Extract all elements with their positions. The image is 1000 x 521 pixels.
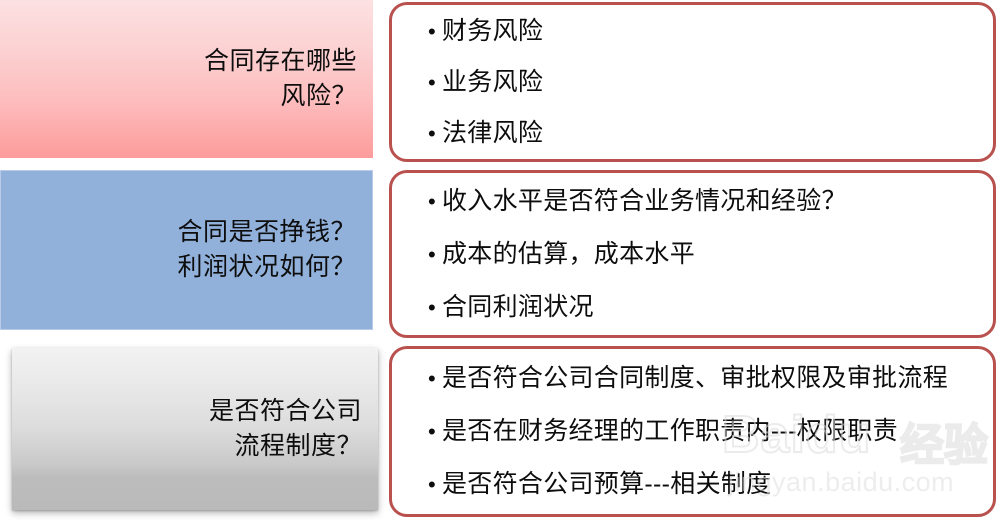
- bullet-text: 业务风险: [442, 70, 543, 95]
- bullet-dot-icon: •: [428, 72, 442, 94]
- bullet-text: 法律风险: [442, 121, 543, 146]
- bullet-item: • 合同利润状况: [428, 295, 993, 320]
- category-block-profit: 合同是否挣钱？ 利润状况如何？: [0, 170, 373, 330]
- bullet-item: • 是否符合公司预算---相关制度: [428, 472, 993, 497]
- bullet-dot-icon: •: [428, 297, 442, 319]
- bullet-dot-icon: •: [428, 191, 442, 213]
- bullet-item: • 成本的估算，成本水平: [428, 242, 993, 267]
- category-label-risk: 合同存在哪些 风险？: [204, 44, 373, 115]
- slide-canvas: 合同存在哪些 风险？ • 财务风险 • 业务风险 • 法律风险 合同是否挣钱？ …: [0, 0, 1000, 521]
- bullet-item: • 是否在财务经理的工作职责内---权限职责: [428, 419, 993, 444]
- bullet-dot-icon: •: [428, 21, 442, 43]
- bullet-item: • 法律风险: [428, 121, 993, 146]
- category-label-process: 是否符合公司 流程制度？: [209, 394, 378, 465]
- bullet-dot-icon: •: [428, 421, 442, 443]
- detail-panel-profit: • 收入水平是否符合业务情况和经验？ • 成本的估算，成本水平 • 合同利润状况: [389, 170, 996, 338]
- bullet-dot-icon: •: [428, 123, 442, 145]
- bullet-dot-icon: •: [428, 244, 442, 266]
- bullet-item: • 是否符合公司合同制度、审批权限及审批流程: [428, 366, 993, 391]
- bullet-text: 成本的估算，成本水平: [442, 242, 695, 267]
- bullet-item: • 业务风险: [428, 70, 993, 95]
- bullet-item: • 财务风险: [428, 19, 993, 44]
- category-block-risk: 合同存在哪些 风险？: [0, 0, 373, 158]
- bullet-text: 是否符合公司预算---相关制度: [442, 472, 771, 497]
- bullet-dot-icon: •: [428, 368, 442, 390]
- category-block-process: 是否符合公司 流程制度？: [12, 348, 378, 510]
- bullet-item: • 收入水平是否符合业务情况和经验？: [428, 189, 993, 214]
- detail-panel-process: • 是否符合公司合同制度、审批权限及审批流程 • 是否在财务经理的工作职责内--…: [389, 346, 996, 517]
- bullet-text: 收入水平是否符合业务情况和经验？: [442, 189, 847, 214]
- category-label-profit: 合同是否挣钱？ 利润状况如何？: [177, 215, 372, 286]
- bullet-text: 是否在财务经理的工作职责内---权限职责: [442, 419, 898, 444]
- detail-panel-risk: • 财务风险 • 业务风险 • 法律风险: [389, 2, 996, 162]
- bullet-dot-icon: •: [428, 474, 442, 496]
- bullet-text: 是否符合公司合同制度、审批权限及审批流程: [442, 366, 948, 391]
- bullet-text: 合同利润状况: [442, 295, 594, 320]
- bullet-text: 财务风险: [442, 19, 543, 44]
